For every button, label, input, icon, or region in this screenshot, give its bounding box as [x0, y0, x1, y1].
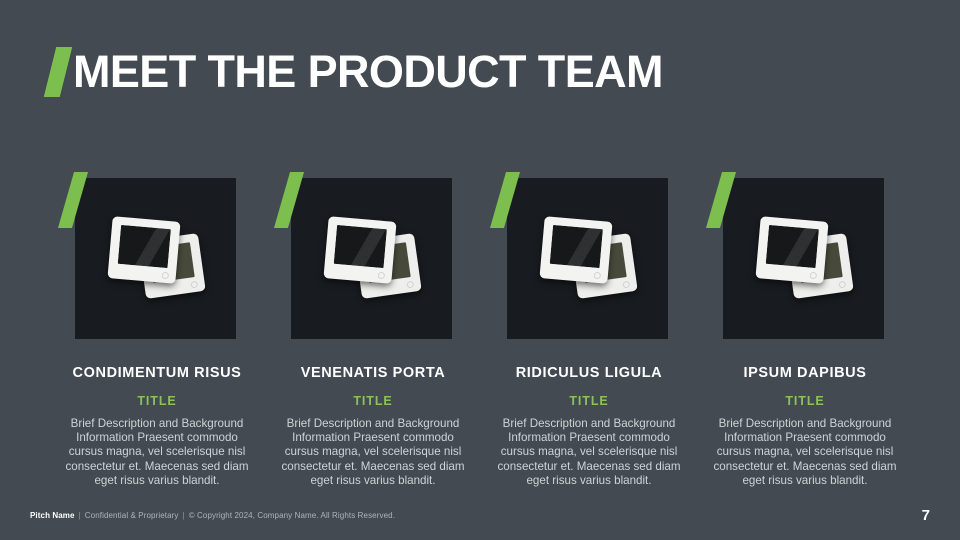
photo-frame-front-dot — [377, 271, 385, 279]
card-thumbnail-wrap — [278, 170, 468, 340]
slide-footer: Pitch Name | Confidential & Proprietary … — [30, 511, 395, 520]
photo-frames-icon — [536, 213, 640, 305]
card-subtitle: TITLE — [494, 394, 684, 408]
photo-frame-front-icon — [107, 216, 180, 284]
team-cards-row: CONDIMENTUM RISUS TITLE Brief Descriptio… — [62, 170, 900, 488]
card-heading: CONDIMENTUM RISUS — [62, 365, 252, 381]
footer-copyright: © Copyright 2024, Company Name. All Righ… — [189, 511, 395, 520]
photo-frames-icon — [752, 213, 856, 305]
photo-frame-front-icon — [323, 216, 396, 284]
card-subtitle: TITLE — [62, 394, 252, 408]
card-body-text: Brief Description and Background Informa… — [710, 417, 900, 488]
photo-frames-icon — [320, 213, 424, 305]
footer-pitch-name: Pitch Name — [30, 511, 75, 520]
photo-frame-front-icon — [539, 216, 612, 284]
card-image-placeholder[interactable] — [291, 178, 452, 339]
team-card[interactable]: RIDICULUS LIGULA TITLE Brief Description… — [494, 170, 684, 488]
card-body-text: Brief Description and Background Informa… — [278, 417, 468, 488]
footer-confidentiality: Confidential & Proprietary — [85, 511, 179, 520]
card-heading: VENENATIS PORTA — [278, 365, 468, 381]
photo-frame-front-dot — [593, 271, 601, 279]
photo-frame-front-screen — [117, 224, 170, 267]
photo-frame-back-dot — [406, 280, 414, 288]
team-card[interactable]: IPSUM DAPIBUS TITLE Brief Description an… — [710, 170, 900, 488]
slide-title-row: MEET THE PRODUCT TEAM — [50, 46, 663, 98]
footer-separator: | — [79, 511, 81, 520]
photo-frame-back-dot — [838, 280, 846, 288]
card-thumbnail-wrap — [710, 170, 900, 340]
card-heading: RIDICULUS LIGULA — [494, 365, 684, 381]
photo-frame-front-dot — [809, 271, 817, 279]
card-body-text: Brief Description and Background Informa… — [62, 417, 252, 488]
team-card[interactable]: VENENATIS PORTA TITLE Brief Description … — [278, 170, 468, 488]
card-subtitle: TITLE — [278, 394, 468, 408]
slide: MEET THE PRODUCT TEAM — [0, 0, 960, 540]
card-body-text: Brief Description and Background Informa… — [494, 417, 684, 488]
page-number: 7 — [922, 507, 930, 524]
card-subtitle: TITLE — [710, 394, 900, 408]
card-thumbnail-wrap — [494, 170, 684, 340]
card-thumbnail-wrap — [62, 170, 252, 340]
team-card[interactable]: CONDIMENTUM RISUS TITLE Brief Descriptio… — [62, 170, 252, 488]
photo-frames-icon — [104, 213, 208, 305]
photo-frame-front-screen — [549, 224, 602, 267]
card-heading: IPSUM DAPIBUS — [710, 365, 900, 381]
title-accent-slash-icon — [44, 47, 72, 97]
page-title: MEET THE PRODUCT TEAM — [73, 47, 663, 97]
photo-frame-front-screen — [333, 224, 386, 267]
card-image-placeholder[interactable] — [75, 178, 236, 339]
card-image-placeholder[interactable] — [723, 178, 884, 339]
photo-frame-back-dot — [622, 280, 630, 288]
footer-separator: | — [183, 511, 185, 520]
photo-frame-back-dot — [190, 280, 198, 288]
card-image-placeholder[interactable] — [507, 178, 668, 339]
photo-frame-front-screen — [765, 224, 818, 267]
photo-frame-front-icon — [755, 216, 828, 284]
photo-frame-front-dot — [161, 271, 169, 279]
